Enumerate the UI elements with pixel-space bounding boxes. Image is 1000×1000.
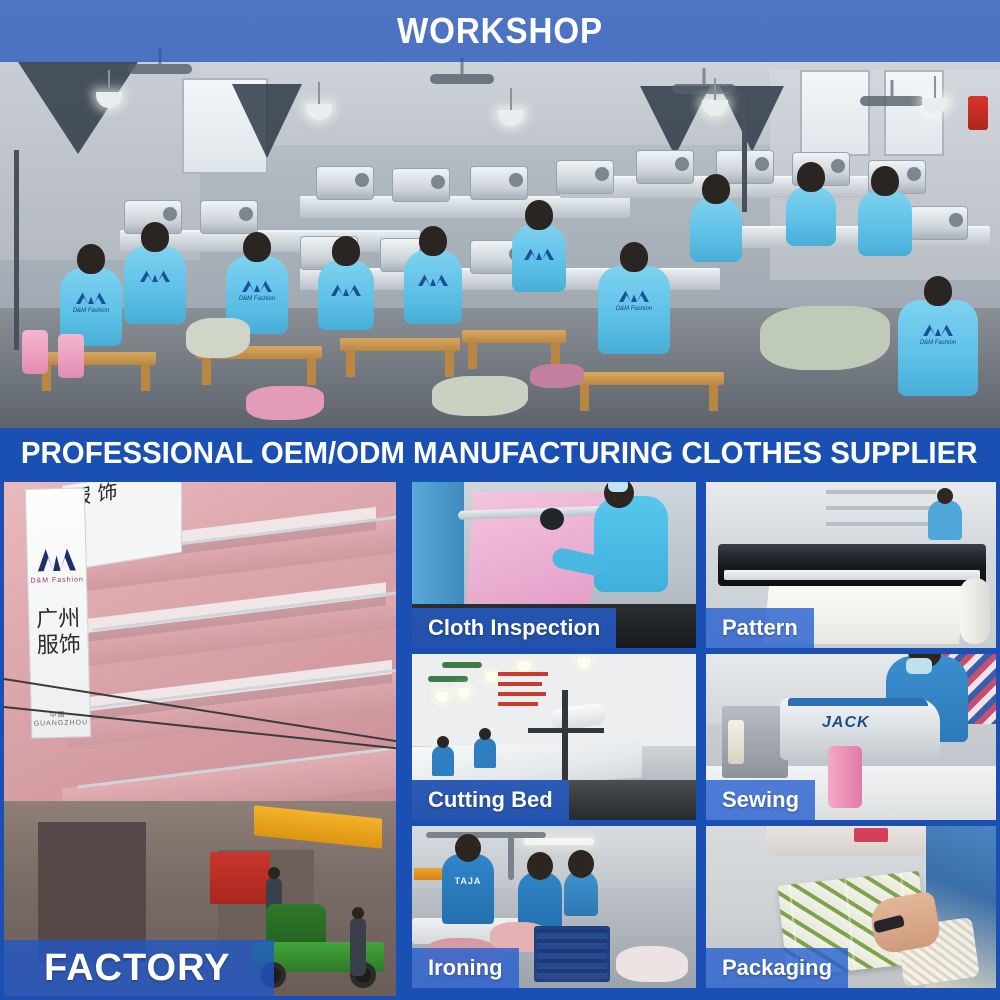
uniform-logo-icon: [524, 242, 554, 264]
tile-cutting-bed[interactable]: Cutting Bed: [412, 654, 696, 820]
machine-top-stripe: [788, 698, 928, 706]
worker-head: [568, 850, 594, 878]
fire-extinguisher-icon: [968, 96, 988, 130]
tile-packaging[interactable]: Packaging: [706, 826, 996, 988]
worker: [318, 260, 374, 330]
tile-label-box: Packaging: [706, 948, 848, 988]
worker-head: [332, 236, 360, 266]
horizontal-post: [528, 728, 604, 733]
white-garment-pile: [616, 946, 688, 982]
worker: [690, 198, 742, 262]
uniform-logo-text: D&M Fashion: [616, 306, 652, 312]
steam-pipe: [426, 832, 546, 838]
street-banner-red: [210, 852, 270, 904]
tile-label-box: Ironing: [412, 948, 519, 988]
fabric-pile: [432, 376, 528, 416]
tile-ironing[interactable]: TAJA Ironing: [412, 826, 696, 988]
worker: [404, 250, 462, 324]
support-pole: [742, 92, 747, 212]
worker-head: [620, 242, 648, 272]
sewing-machine: [200, 200, 258, 234]
ironing-worker: [564, 870, 598, 916]
company-brand-text: D&M Fashion: [28, 576, 86, 585]
blue-crate: [534, 926, 610, 982]
rig-bar: [826, 506, 936, 510]
ceiling-fan-icon: [128, 64, 192, 74]
tile-factory[interactable]: 服 饰 D&M Fashion 广州 服饰 中国 · GUANGZHOU: [4, 482, 396, 996]
cutting-worker: [432, 746, 454, 776]
tile-label-cloth-inspection: Cloth Inspection: [428, 615, 600, 641]
workshop-title-band: WORKSHOP: [0, 0, 1000, 62]
wooden-bench: [574, 372, 724, 385]
uniform-logo-text: D&M Fashion: [73, 308, 109, 314]
uniform-logo-icon: [76, 286, 106, 308]
marketing-collage-page: D&M Fashion D&M Fashion: [0, 0, 1000, 1000]
sewing-machine: [470, 166, 528, 200]
worker-head: [243, 232, 271, 262]
worker-head: [141, 222, 169, 252]
tile-sewing[interactable]: JACK Sewing: [706, 654, 996, 820]
wall-poster: [498, 664, 556, 708]
face-mask: [608, 482, 628, 492]
workshop-window: [800, 70, 870, 156]
tile-label-sewing: Sewing: [722, 787, 799, 813]
ceiling-fan-icon: [442, 662, 482, 668]
worker-head: [527, 852, 553, 880]
worker-head: [702, 174, 730, 204]
worker: D&M Fashion: [898, 300, 978, 396]
ceiling-fan-icon: [860, 96, 924, 106]
sewing-machine: [636, 150, 694, 184]
sewing-machine: [556, 160, 614, 194]
tile-label-box: Cutting Bed: [412, 780, 569, 820]
tile-label-box: Sewing: [706, 780, 815, 820]
roller-knob: [540, 508, 564, 530]
tile-label-box: Cloth Inspection: [412, 608, 616, 648]
red-label: [854, 828, 888, 842]
uniform-logo-icon: [140, 264, 170, 286]
factory-label: FACTORY: [44, 947, 230, 990]
worker: D&M Fashion: [598, 266, 670, 354]
wooden-bench: [462, 330, 566, 343]
poster-line: [498, 702, 538, 706]
uniform-logo-text: D&M Fashion: [920, 340, 956, 346]
worker-head: [871, 166, 899, 196]
thread-spool: [22, 330, 48, 374]
fabric-pile: [246, 386, 324, 420]
process-grid: 服 饰 D&M Fashion 广州 服饰 中国 · GUANGZHOU: [0, 478, 1000, 1000]
workshop-scene: D&M Fashion D&M Fashion: [0, 0, 1000, 428]
worker-head: [797, 162, 825, 192]
plotter-rail: [724, 570, 980, 580]
tricycle-cab: [266, 904, 326, 946]
worker-body: [594, 496, 668, 592]
worker-head: [77, 244, 105, 274]
tile-label-packaging: Packaging: [722, 955, 832, 981]
thread-cone: [728, 720, 744, 764]
wooden-bench: [36, 352, 156, 365]
uniform-logo-icon: [418, 268, 448, 290]
worker-head: [924, 276, 952, 306]
worker: [858, 190, 912, 256]
uniform-logo-text: D&M Fashion: [239, 296, 275, 302]
worker-shirt-brand: TAJA: [455, 876, 482, 886]
ironing-worker: TAJA: [442, 854, 494, 924]
sewing-machine: [910, 206, 968, 240]
tube-light-icon: [524, 838, 594, 845]
workshop-hero-photo: D&M Fashion D&M Fashion: [0, 0, 1000, 428]
uniform-logo-icon: [242, 274, 272, 296]
tile-label-ironing: Ironing: [428, 955, 503, 981]
ceiling-fan-icon: [672, 84, 736, 94]
worker-head: [525, 200, 553, 230]
tile-label-box: Pattern: [706, 608, 814, 648]
support-pole: [14, 150, 19, 350]
company-logo-icon: [37, 545, 76, 572]
pattern-operator: [928, 500, 962, 540]
tile-label-cutting-bed: Cutting Bed: [428, 787, 553, 813]
worker: [512, 224, 566, 292]
inspection-worker: [594, 496, 668, 592]
tile-label-pattern: Pattern: [722, 615, 798, 641]
tile-cloth-inspection[interactable]: Cloth Inspection: [412, 482, 696, 648]
factory-label-box: FACTORY: [4, 940, 274, 996]
cutting-worker: [474, 738, 496, 768]
worker-head: [455, 834, 481, 862]
steam-pipe: [508, 832, 514, 880]
uniform-logo-icon: [331, 278, 361, 300]
sewing-machine: [392, 168, 450, 202]
poster-line: [498, 672, 548, 676]
tile-pattern[interactable]: Pattern: [706, 482, 996, 648]
headline-text: PROFESSIONAL OEM/ODM MANUFACTURING CLOTH…: [0, 435, 978, 471]
rig-bar: [826, 490, 936, 494]
worker-head: [419, 226, 447, 256]
poster-line: [498, 692, 546, 696]
face-mask: [906, 658, 932, 674]
wooden-bench: [340, 338, 460, 351]
worker: [786, 186, 836, 246]
page-title: WORKSHOP: [397, 10, 603, 52]
poster-line: [498, 682, 542, 686]
ceiling-fan-icon: [428, 676, 468, 682]
pink-thread-spool: [828, 746, 862, 808]
fabric-pile: [530, 364, 584, 388]
pedestrian: [350, 918, 366, 976]
fabric-pile: [186, 318, 250, 358]
factory-building-photo: 服 饰 D&M Fashion 广州 服饰 中国 · GUANGZHOU: [4, 482, 396, 996]
headline-banner: PROFESSIONAL OEM/ODM MANUFACTURING CLOTH…: [0, 428, 1000, 478]
fabric-pile: [760, 306, 890, 370]
overhead-rig: [826, 484, 936, 538]
sewing-machine-brand: JACK: [822, 714, 870, 732]
worker: [124, 246, 186, 324]
thread-spool: [58, 334, 84, 378]
paper-roll: [960, 578, 990, 644]
uniform-logo-icon: [923, 318, 953, 340]
company-sign-chinese-text: 广州 服饰: [29, 606, 88, 660]
sewing-machine: [316, 166, 374, 200]
ceiling-fan-icon: [430, 74, 494, 84]
company-vertical-sign: D&M Fashion 广州 服饰 中国 · GUANGZHOU: [25, 487, 92, 738]
uniform-logo-icon: [619, 284, 649, 306]
rig-bar: [826, 522, 936, 526]
poly-bag-bundle: [766, 826, 926, 856]
